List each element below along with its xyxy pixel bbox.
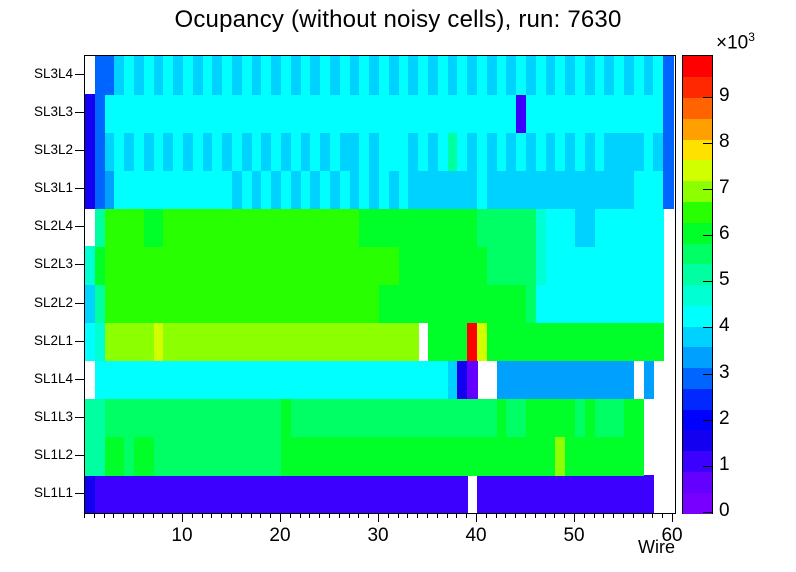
colorbar-band <box>683 492 712 513</box>
heatmap-cell <box>653 246 663 285</box>
x-axis-tick <box>447 513 448 518</box>
x-axis-tick <box>123 513 124 518</box>
colorbar-band <box>683 368 712 389</box>
heatmap-cell <box>663 170 673 209</box>
x-axis-tick-label: 30 <box>348 525 408 547</box>
heatmap-cell <box>653 208 663 247</box>
x-axis-tick <box>349 513 350 518</box>
colorbar-band <box>683 243 712 264</box>
x-axis-tick <box>672 513 673 522</box>
y-axis-tick <box>75 341 84 342</box>
x-axis-tick <box>437 513 438 518</box>
x-axis-tick <box>613 513 614 518</box>
x-axis-tick <box>260 513 261 518</box>
x-axis-tick <box>182 513 183 522</box>
x-axis-tick <box>427 513 428 518</box>
y-axis-tick-label: SL3L3 <box>1 104 73 119</box>
colorbar-tick-label: 2 <box>719 408 730 430</box>
heatmap-cell <box>634 399 644 438</box>
x-axis-tick <box>515 513 516 518</box>
x-axis-tick <box>662 513 663 518</box>
x-axis-tick <box>388 513 389 518</box>
x-axis-tick <box>545 513 546 518</box>
colorbar-band <box>683 451 712 472</box>
heatmap-cell <box>644 361 654 400</box>
x-axis-tick <box>251 513 252 518</box>
x-axis-tick-label: 50 <box>544 525 604 547</box>
heatmap-cell <box>457 475 467 513</box>
x-axis-tick <box>564 513 565 518</box>
x-axis-tick <box>221 513 222 518</box>
color-bar <box>682 55 713 514</box>
y-axis-tick-label: SL2L4 <box>1 218 73 233</box>
x-axis-tick <box>172 513 173 518</box>
colorbar-tick <box>703 281 713 282</box>
x-axis-tick <box>496 513 497 518</box>
y-axis-tick-label: SL3L1 <box>1 180 73 195</box>
colorbar-tick <box>703 466 713 467</box>
x-axis-tick-label: 20 <box>250 525 310 547</box>
y-axis-tick <box>75 303 84 304</box>
heatmap-cell <box>624 361 634 400</box>
x-axis-tick <box>594 513 595 518</box>
colorbar-tick-label: 4 <box>719 315 730 337</box>
colorbar-tick <box>703 420 713 421</box>
colorbar-band <box>683 222 712 243</box>
y-axis-tick-label: SL1L2 <box>1 447 73 462</box>
colorbar-tick <box>703 374 713 375</box>
x-axis-tick <box>466 513 467 518</box>
y-axis-tick <box>75 493 84 494</box>
colorbar-exponent-label: ×103 <box>716 30 755 54</box>
colorbar-tick <box>703 327 713 328</box>
colorbar-tick-label: 8 <box>719 131 730 153</box>
colorbar-tick-label: 6 <box>719 223 730 245</box>
x-axis-tick <box>300 513 301 518</box>
y-axis-tick-label: SL1L1 <box>1 485 73 500</box>
y-axis-tick <box>75 226 84 227</box>
x-axis-tick <box>652 513 653 518</box>
x-axis-tick <box>603 513 604 518</box>
y-axis-tick <box>75 264 84 265</box>
x-axis-tick <box>476 513 477 522</box>
heatmap-cell <box>467 361 477 400</box>
colorbar-band <box>683 305 712 326</box>
y-axis-tick <box>75 74 84 75</box>
x-axis-tick <box>505 513 506 518</box>
x-axis-tick <box>554 513 555 518</box>
x-axis-tick <box>231 513 232 518</box>
x-axis-tick <box>584 513 585 518</box>
heatmap-cell <box>644 475 654 513</box>
x-axis-tick <box>407 513 408 518</box>
colorbar-tick-label: 9 <box>719 85 730 107</box>
x-axis-tick <box>358 513 359 518</box>
y-axis-tick-label: SL1L3 <box>1 409 73 424</box>
y-axis-tick <box>75 417 84 418</box>
y-axis-tick-label: SL3L2 <box>1 142 73 157</box>
y-axis-tick-label: SL2L1 <box>1 333 73 348</box>
x-axis-tick <box>113 513 114 518</box>
colorbar-band <box>683 77 712 98</box>
heatmap-cell <box>663 132 673 171</box>
x-axis-tick <box>643 513 644 518</box>
x-axis-tick <box>211 513 212 518</box>
x-axis-tick <box>368 513 369 518</box>
plot-frame <box>84 55 676 514</box>
y-axis-tick <box>75 112 84 113</box>
colorbar-band <box>683 326 712 347</box>
heatmap-cell <box>663 94 673 133</box>
y-axis-tick <box>75 455 84 456</box>
x-axis-tick <box>94 513 95 518</box>
colorbar-tick <box>703 512 713 513</box>
colorbar-band <box>683 285 712 306</box>
x-axis-tick <box>633 513 634 518</box>
x-axis-title: Wire <box>638 537 675 558</box>
x-axis-tick <box>270 513 271 518</box>
heatmap-cell <box>653 285 663 324</box>
y-axis-tick-label: SL3L4 <box>1 66 73 81</box>
x-axis-tick <box>241 513 242 518</box>
x-axis-tick <box>398 513 399 518</box>
x-axis-tick <box>417 513 418 518</box>
x-axis-tick-label: 10 <box>152 525 212 547</box>
colorbar-tick-label: 3 <box>719 362 730 384</box>
x-axis-tick <box>192 513 193 518</box>
x-axis-tick <box>202 513 203 518</box>
x-axis-tick <box>309 513 310 518</box>
x-axis-tick <box>153 513 154 518</box>
x-axis-tick-label: 40 <box>446 525 506 547</box>
x-axis-tick <box>339 513 340 518</box>
x-axis-tick <box>162 513 163 518</box>
colorbar-tick-label: 7 <box>719 177 730 199</box>
x-axis-tick <box>84 513 85 518</box>
colorbar-tick <box>703 143 713 144</box>
heatmap-cell <box>634 437 644 476</box>
x-axis-tick <box>133 513 134 518</box>
x-axis-tick <box>486 513 487 518</box>
y-axis-tick <box>75 379 84 380</box>
colorbar-band <box>683 430 712 451</box>
colorbar-band <box>683 471 712 492</box>
colorbar-tick <box>703 189 713 190</box>
page-title: Ocupancy (without noisy cells), run: 763… <box>0 6 796 34</box>
heatmap-cell <box>663 56 673 95</box>
colorbar-band <box>683 388 712 409</box>
colorbar-tick <box>703 235 713 236</box>
x-axis-tick <box>290 513 291 518</box>
colorbar-tick-label: 1 <box>719 454 730 476</box>
x-axis-tick <box>535 513 536 518</box>
colorbar-band <box>683 98 712 119</box>
x-axis-tick <box>574 513 575 522</box>
colorbar-tick-label: 5 <box>719 269 730 291</box>
y-axis-tick <box>75 188 84 189</box>
x-axis-tick <box>319 513 320 518</box>
x-axis-tick <box>104 513 105 518</box>
y-axis-tick <box>75 150 84 151</box>
x-axis-tick <box>456 513 457 518</box>
heatmap-cell <box>653 323 663 362</box>
x-axis-tick <box>378 513 379 522</box>
x-axis-tick <box>329 513 330 518</box>
x-axis-tick <box>623 513 624 518</box>
y-axis-tick-label: SL1L4 <box>1 371 73 386</box>
colorbar-band <box>683 181 712 202</box>
colorbar-band <box>683 118 712 139</box>
y-axis-tick-label: SL2L3 <box>1 256 73 271</box>
colorbar-band <box>683 201 712 222</box>
colorbar-band <box>683 56 712 77</box>
colorbar-band <box>683 160 712 181</box>
heatmap-cells <box>85 56 675 513</box>
colorbar-tick-label: 0 <box>719 500 730 522</box>
x-axis-tick <box>143 513 144 518</box>
x-axis-tick <box>280 513 281 522</box>
colorbar-band <box>683 347 712 368</box>
colorbar-tick <box>703 97 713 98</box>
root-canvas: Ocupancy (without noisy cells), run: 763… <box>0 0 796 572</box>
x-axis-tick <box>525 513 526 518</box>
y-axis-tick-label: SL2L2 <box>1 295 73 310</box>
heatmap-cell <box>408 323 418 362</box>
